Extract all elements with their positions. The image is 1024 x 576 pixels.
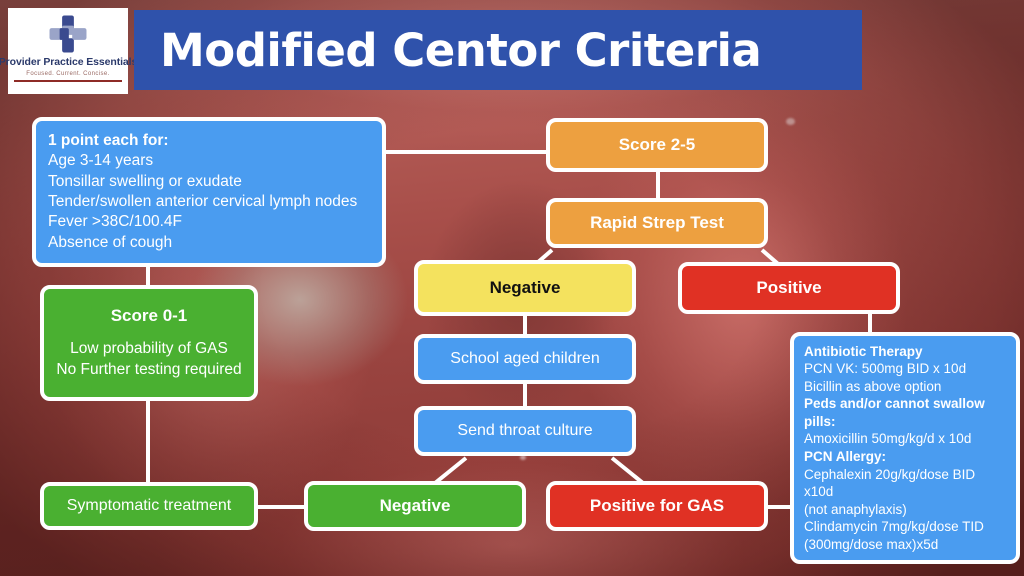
connector-criteria-to-score25 xyxy=(386,150,548,154)
antibiotic-therapy-box: Antibiotic Therapy PCN VK: 500mg BID x 1… xyxy=(790,332,1020,564)
criteria-item: Age 3-14 years xyxy=(48,151,153,171)
criteria-item: Absence of cough xyxy=(48,233,172,253)
antibiotic-line: (300mg/dose max)x5d xyxy=(804,536,938,554)
title-bar: Modified Centor Criteria xyxy=(134,10,862,90)
connector-negative-to-schoolaged xyxy=(523,314,527,336)
logo-tagline: Focused. Current. Concise. xyxy=(26,71,109,77)
brand-logo: Provider Practice Essentials Focused. Cu… xyxy=(8,8,128,94)
page-title: Modified Centor Criteria xyxy=(160,24,761,77)
node-culture-negative: Negative xyxy=(304,481,526,531)
node-title: Score 0-1 xyxy=(111,306,188,326)
slide: Provider Practice Essentials Focused. Cu… xyxy=(0,0,1024,576)
node-school-aged-children: School aged children xyxy=(414,334,636,384)
node-strep-positive: Positive xyxy=(678,262,900,314)
node-label: Rapid Strep Test xyxy=(590,213,724,233)
logo-divider xyxy=(14,80,122,82)
node-label: Positive xyxy=(756,278,821,298)
node-line: No Further testing required xyxy=(56,360,241,380)
node-label: Score 2-5 xyxy=(619,135,696,155)
node-label: Negative xyxy=(380,496,451,516)
node-label: School aged children xyxy=(450,350,599,368)
node-label: Negative xyxy=(490,278,561,298)
antibiotic-line: (not anaphylaxis) xyxy=(804,501,907,519)
interlocking-cross-icon xyxy=(47,13,89,55)
node-score-2-5: Score 2-5 xyxy=(546,118,768,172)
antibiotic-heading: Antibiotic Therapy xyxy=(804,343,923,361)
node-send-throat-culture: Send throat culture xyxy=(414,406,636,456)
node-rapid-strep-test: Rapid Strep Test xyxy=(546,198,768,248)
node-label: Positive for GAS xyxy=(590,496,724,516)
antibiotic-line: PCN VK: 500mg BID x 10d xyxy=(804,360,966,378)
node-strep-negative: Negative xyxy=(414,260,636,316)
antibiotic-line: Amoxicillin 50mg/kg/d x 10d xyxy=(804,430,971,448)
antibiotic-allergy-heading: PCN Allergy: xyxy=(804,448,886,466)
antibiotic-line: Cephalexin 20g/kg/dose BID x10d xyxy=(804,466,1006,501)
criteria-item: Tonsillar swelling or exudate xyxy=(48,172,242,192)
node-symptomatic-treatment: Symptomatic treatment xyxy=(40,482,258,530)
criteria-item: Tender/swollen anterior cervical lymph n… xyxy=(48,192,357,212)
connector-schoolaged-to-culture xyxy=(523,384,527,406)
connector-criteria-to-score01 xyxy=(146,266,150,286)
connector-score25-to-rapidstrep xyxy=(656,172,660,200)
criteria-box: 1 point each for: Age 3-14 years Tonsill… xyxy=(32,117,386,267)
antibiotic-peds-heading-cont: pills: xyxy=(804,413,836,431)
antibiotic-line: Bicillin as above option xyxy=(804,378,941,396)
node-culture-positive-gas: Positive for GAS xyxy=(546,481,768,531)
logo-brand-name: Provider Practice Essentials xyxy=(0,56,137,68)
node-line: Low probability of GAS xyxy=(70,339,228,359)
antibiotic-line: Clindamycin 7mg/kg/dose TID xyxy=(804,518,984,536)
node-label: Send throat culture xyxy=(457,422,592,440)
connector-score01-to-symptomatic xyxy=(146,400,150,484)
connector-negative-to-symptomatic xyxy=(258,505,304,509)
criteria-item: Fever >38C/100.4F xyxy=(48,212,182,232)
criteria-heading: 1 point each for: xyxy=(48,131,169,151)
antibiotic-peds-heading: Peds and/or cannot swallow xyxy=(804,395,985,413)
node-label: Symptomatic treatment xyxy=(67,497,232,515)
node-score-0-1: Score 0-1 Low probability of GAS No Furt… xyxy=(40,285,258,401)
